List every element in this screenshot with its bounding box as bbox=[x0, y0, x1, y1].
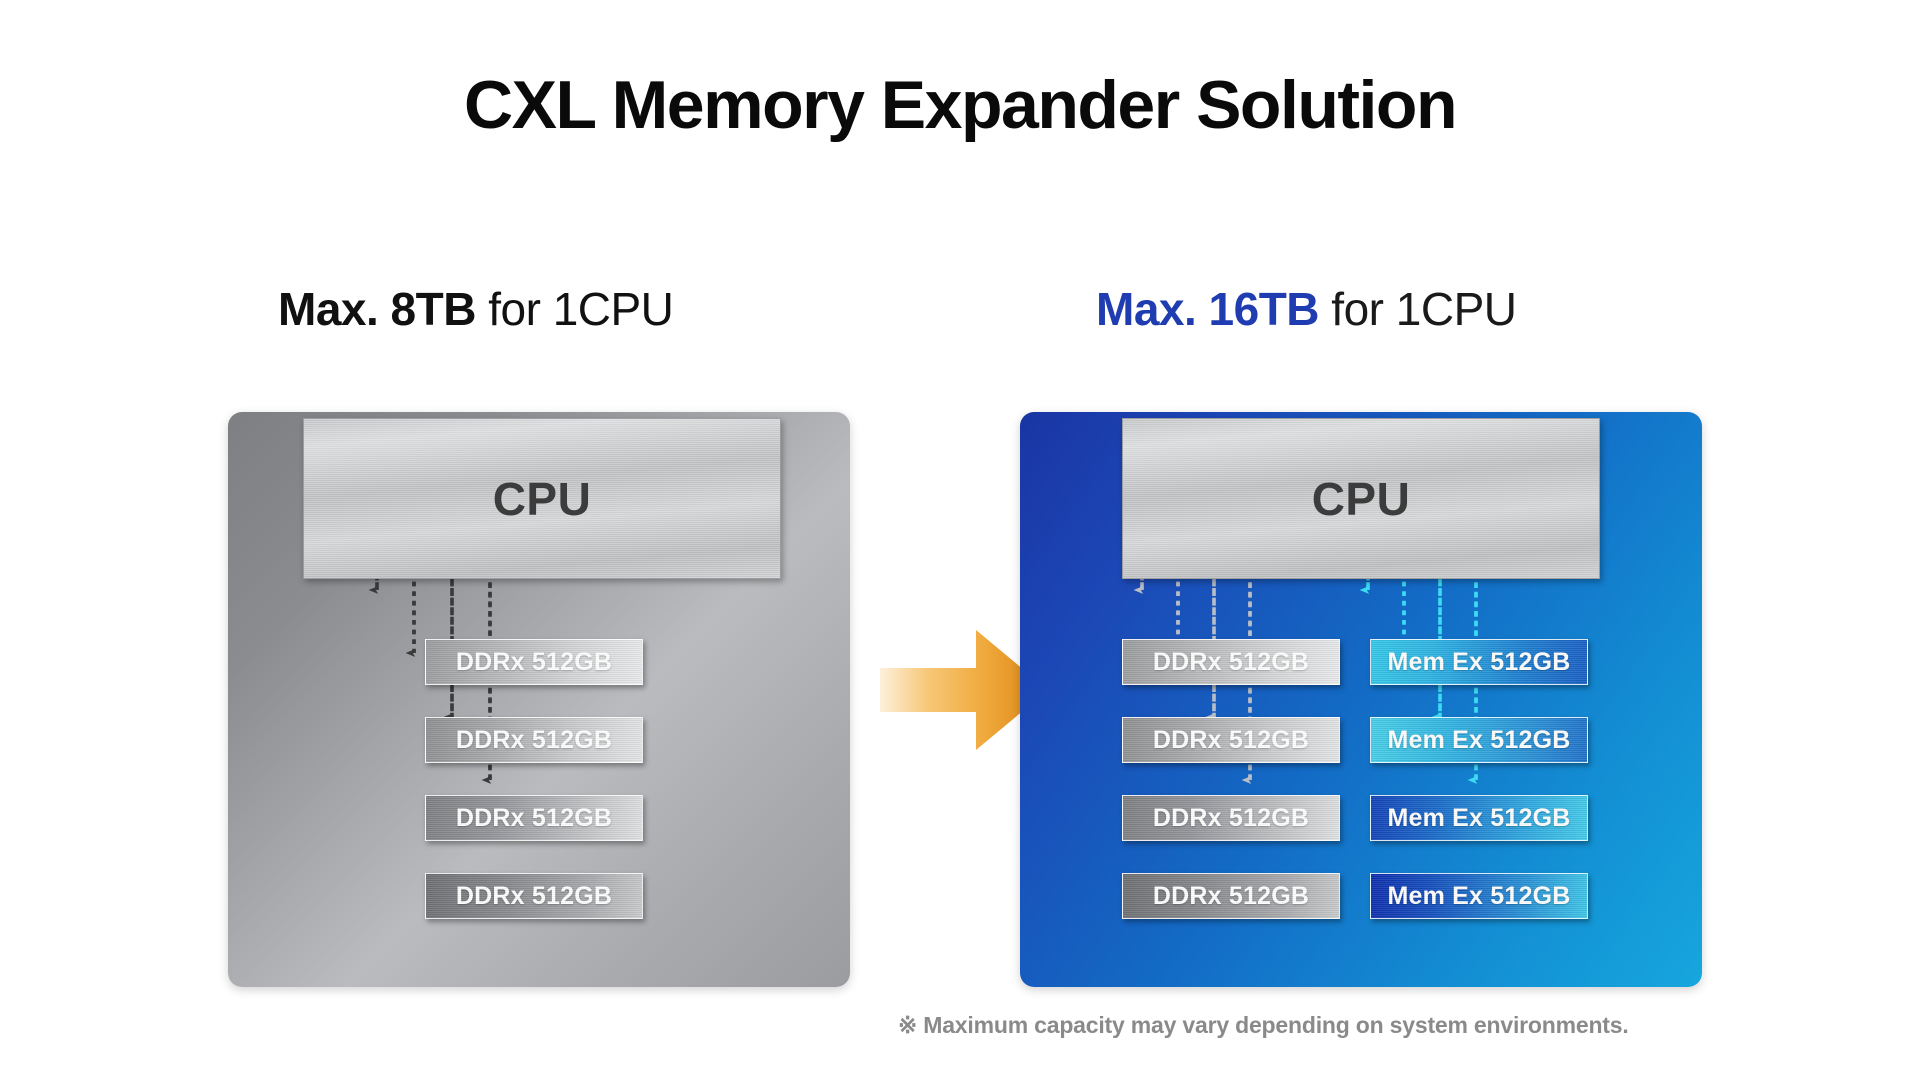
page-title: CXL Memory Expander Solution bbox=[0, 66, 1920, 144]
memory-module-memex: Mem Ex 512GB bbox=[1370, 873, 1588, 919]
module-label: Mem Ex 512GB bbox=[1387, 882, 1570, 911]
cpu-block-left: CPU bbox=[303, 418, 781, 579]
heading-right-strong: Max. 16TB bbox=[1096, 283, 1319, 335]
cpu-label: CPU bbox=[1312, 472, 1411, 526]
memory-module-ddrx: DDRx 512GB bbox=[1122, 717, 1340, 763]
memory-module-memex: Mem Ex 512GB bbox=[1370, 717, 1588, 763]
module-label: DDRx 512GB bbox=[1153, 648, 1309, 677]
module-label: DDRx 512GB bbox=[1153, 882, 1309, 911]
module-label: DDRx 512GB bbox=[1153, 804, 1309, 833]
memory-module-ddrx: DDRx 512GB bbox=[425, 639, 643, 685]
heading-left-strong: Max. 8TB bbox=[278, 283, 476, 335]
heading-left-light: for 1CPU bbox=[476, 283, 673, 335]
module-label: DDRx 512GB bbox=[456, 648, 612, 677]
memory-module-memex: Mem Ex 512GB bbox=[1370, 795, 1588, 841]
module-label: DDRx 512GB bbox=[456, 726, 612, 755]
cpu-label: CPU bbox=[493, 472, 592, 526]
memory-module-ddrx: DDRx 512GB bbox=[1122, 639, 1340, 685]
memory-module-ddrx: DDRx 512GB bbox=[1122, 795, 1340, 841]
module-label: DDRx 512GB bbox=[456, 882, 612, 911]
heading-right-light: for 1CPU bbox=[1319, 283, 1516, 335]
memory-module-memex: Mem Ex 512GB bbox=[1370, 639, 1588, 685]
cpu-block-right: CPU bbox=[1122, 418, 1600, 579]
memory-module-ddrx: DDRx 512GB bbox=[425, 873, 643, 919]
module-label: DDRx 512GB bbox=[456, 804, 612, 833]
footnote-text: ※ Maximum capacity may vary depending on… bbox=[898, 1012, 1629, 1039]
memory-module-ddrx: DDRx 512GB bbox=[1122, 873, 1340, 919]
module-label: Mem Ex 512GB bbox=[1387, 648, 1570, 677]
memory-module-ddrx: DDRx 512GB bbox=[425, 795, 643, 841]
heading-left: Max. 8TB for 1CPU bbox=[278, 282, 673, 336]
memory-module-ddrx: DDRx 512GB bbox=[425, 717, 643, 763]
diagram-canvas: CXL Memory Expander Solution Max. 8TB fo… bbox=[0, 0, 1920, 1080]
module-label: Mem Ex 512GB bbox=[1387, 804, 1570, 833]
heading-right: Max. 16TB for 1CPU bbox=[1096, 282, 1516, 336]
module-label: DDRx 512GB bbox=[1153, 726, 1309, 755]
module-label: Mem Ex 512GB bbox=[1387, 726, 1570, 755]
